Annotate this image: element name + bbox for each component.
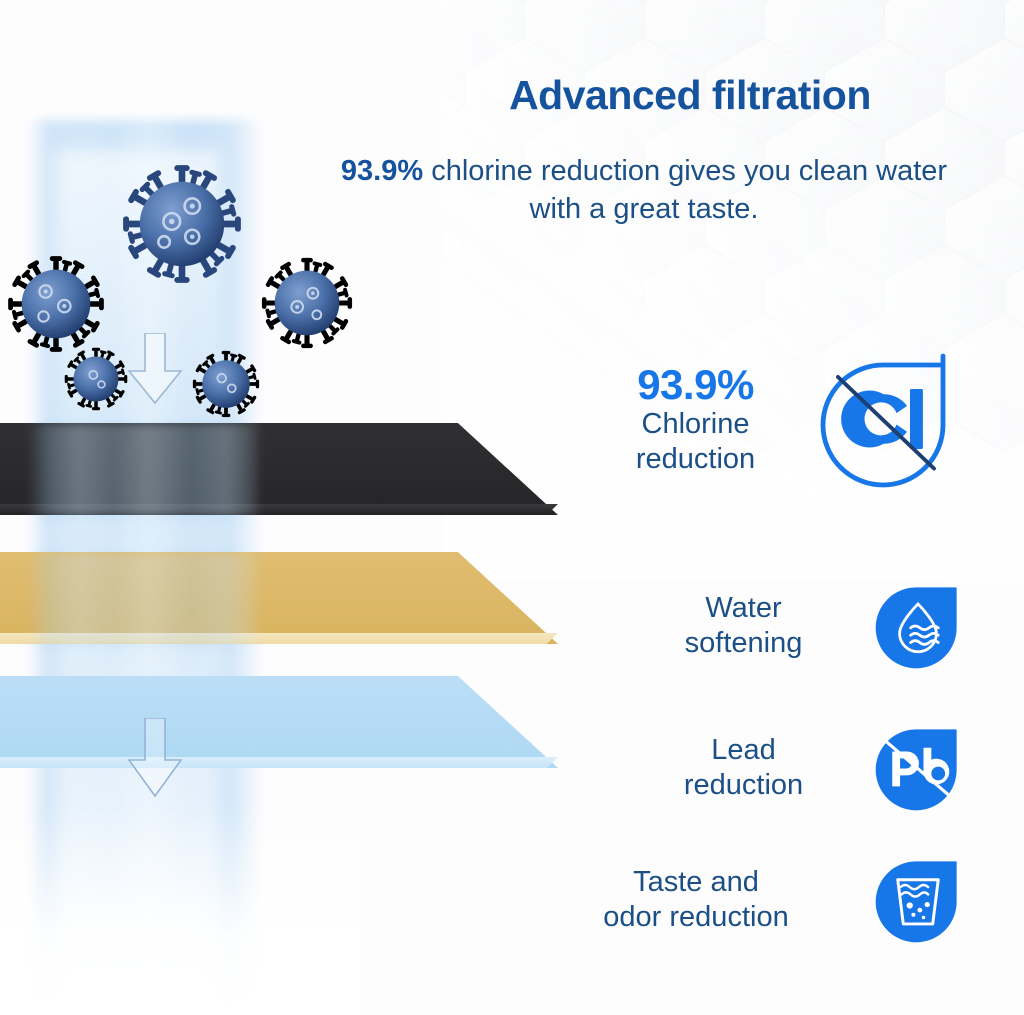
feature-taste-label-line1: Taste and: [633, 866, 759, 898]
feature-taste-label: Taste and odor reduction: [546, 865, 846, 935]
water-flow-arrow-down: [126, 718, 184, 798]
feature-chlorine-label-line2: reduction: [636, 443, 755, 475]
water-stream-through-carbon: [28, 423, 260, 518]
water-stream-through-resin: [28, 552, 260, 647]
virus-particle: [258, 254, 356, 352]
page-subtitle: 93.9% chlorine reduction gives you clean…: [328, 152, 960, 229]
subtitle-text: chlorine reduction gives you clean water…: [423, 155, 947, 225]
feature-softening-label: Water softening: [641, 591, 846, 661]
page-title: Advanced filtration: [430, 74, 950, 117]
product-infographic: Advanced filtration 93.9% chlorine reduc…: [0, 0, 1024, 1015]
feature-softening-label-line2: softening: [685, 627, 803, 659]
virus-particle: [190, 348, 262, 420]
feature-lead-reduction: Lead reduction: [624, 722, 964, 814]
glass-water-taste-icon: [872, 854, 964, 946]
virus-particle: [4, 252, 108, 356]
feature-lead-label: Lead reduction: [641, 733, 846, 803]
virus-particle: [62, 345, 130, 413]
feature-chlorine-reduction: 93.9% Chlorine reduction: [584, 344, 964, 494]
feature-taste-label-line2: odor reduction: [603, 901, 788, 933]
feature-water-softening: Water softening: [624, 580, 964, 672]
shield-chlorine-blocked-icon: [814, 344, 964, 494]
feature-taste-odor-reduction: Taste and odor reduction: [534, 854, 964, 946]
water-droplet-softening-icon: [872, 580, 964, 672]
feature-chlorine-label-line1: Chlorine: [642, 408, 750, 440]
water-flow-arrow-down: [126, 333, 184, 405]
chlorine-reduction-percent: 93.9%: [341, 155, 423, 187]
virus-particle: [118, 160, 246, 288]
feature-softening-label-line1: Water: [705, 592, 781, 624]
lead-blocked-icon: [872, 722, 964, 814]
feature-chlorine-label: 93.9% Chlorine reduction: [593, 362, 798, 477]
polishing-layer: [0, 676, 558, 768]
feature-chlorine-stat: 93.9%: [593, 362, 798, 407]
water-stream-fade: [0, 805, 360, 1015]
feature-lead-label-line1: Lead: [711, 734, 776, 766]
feature-lead-label-line2: reduction: [684, 769, 803, 801]
